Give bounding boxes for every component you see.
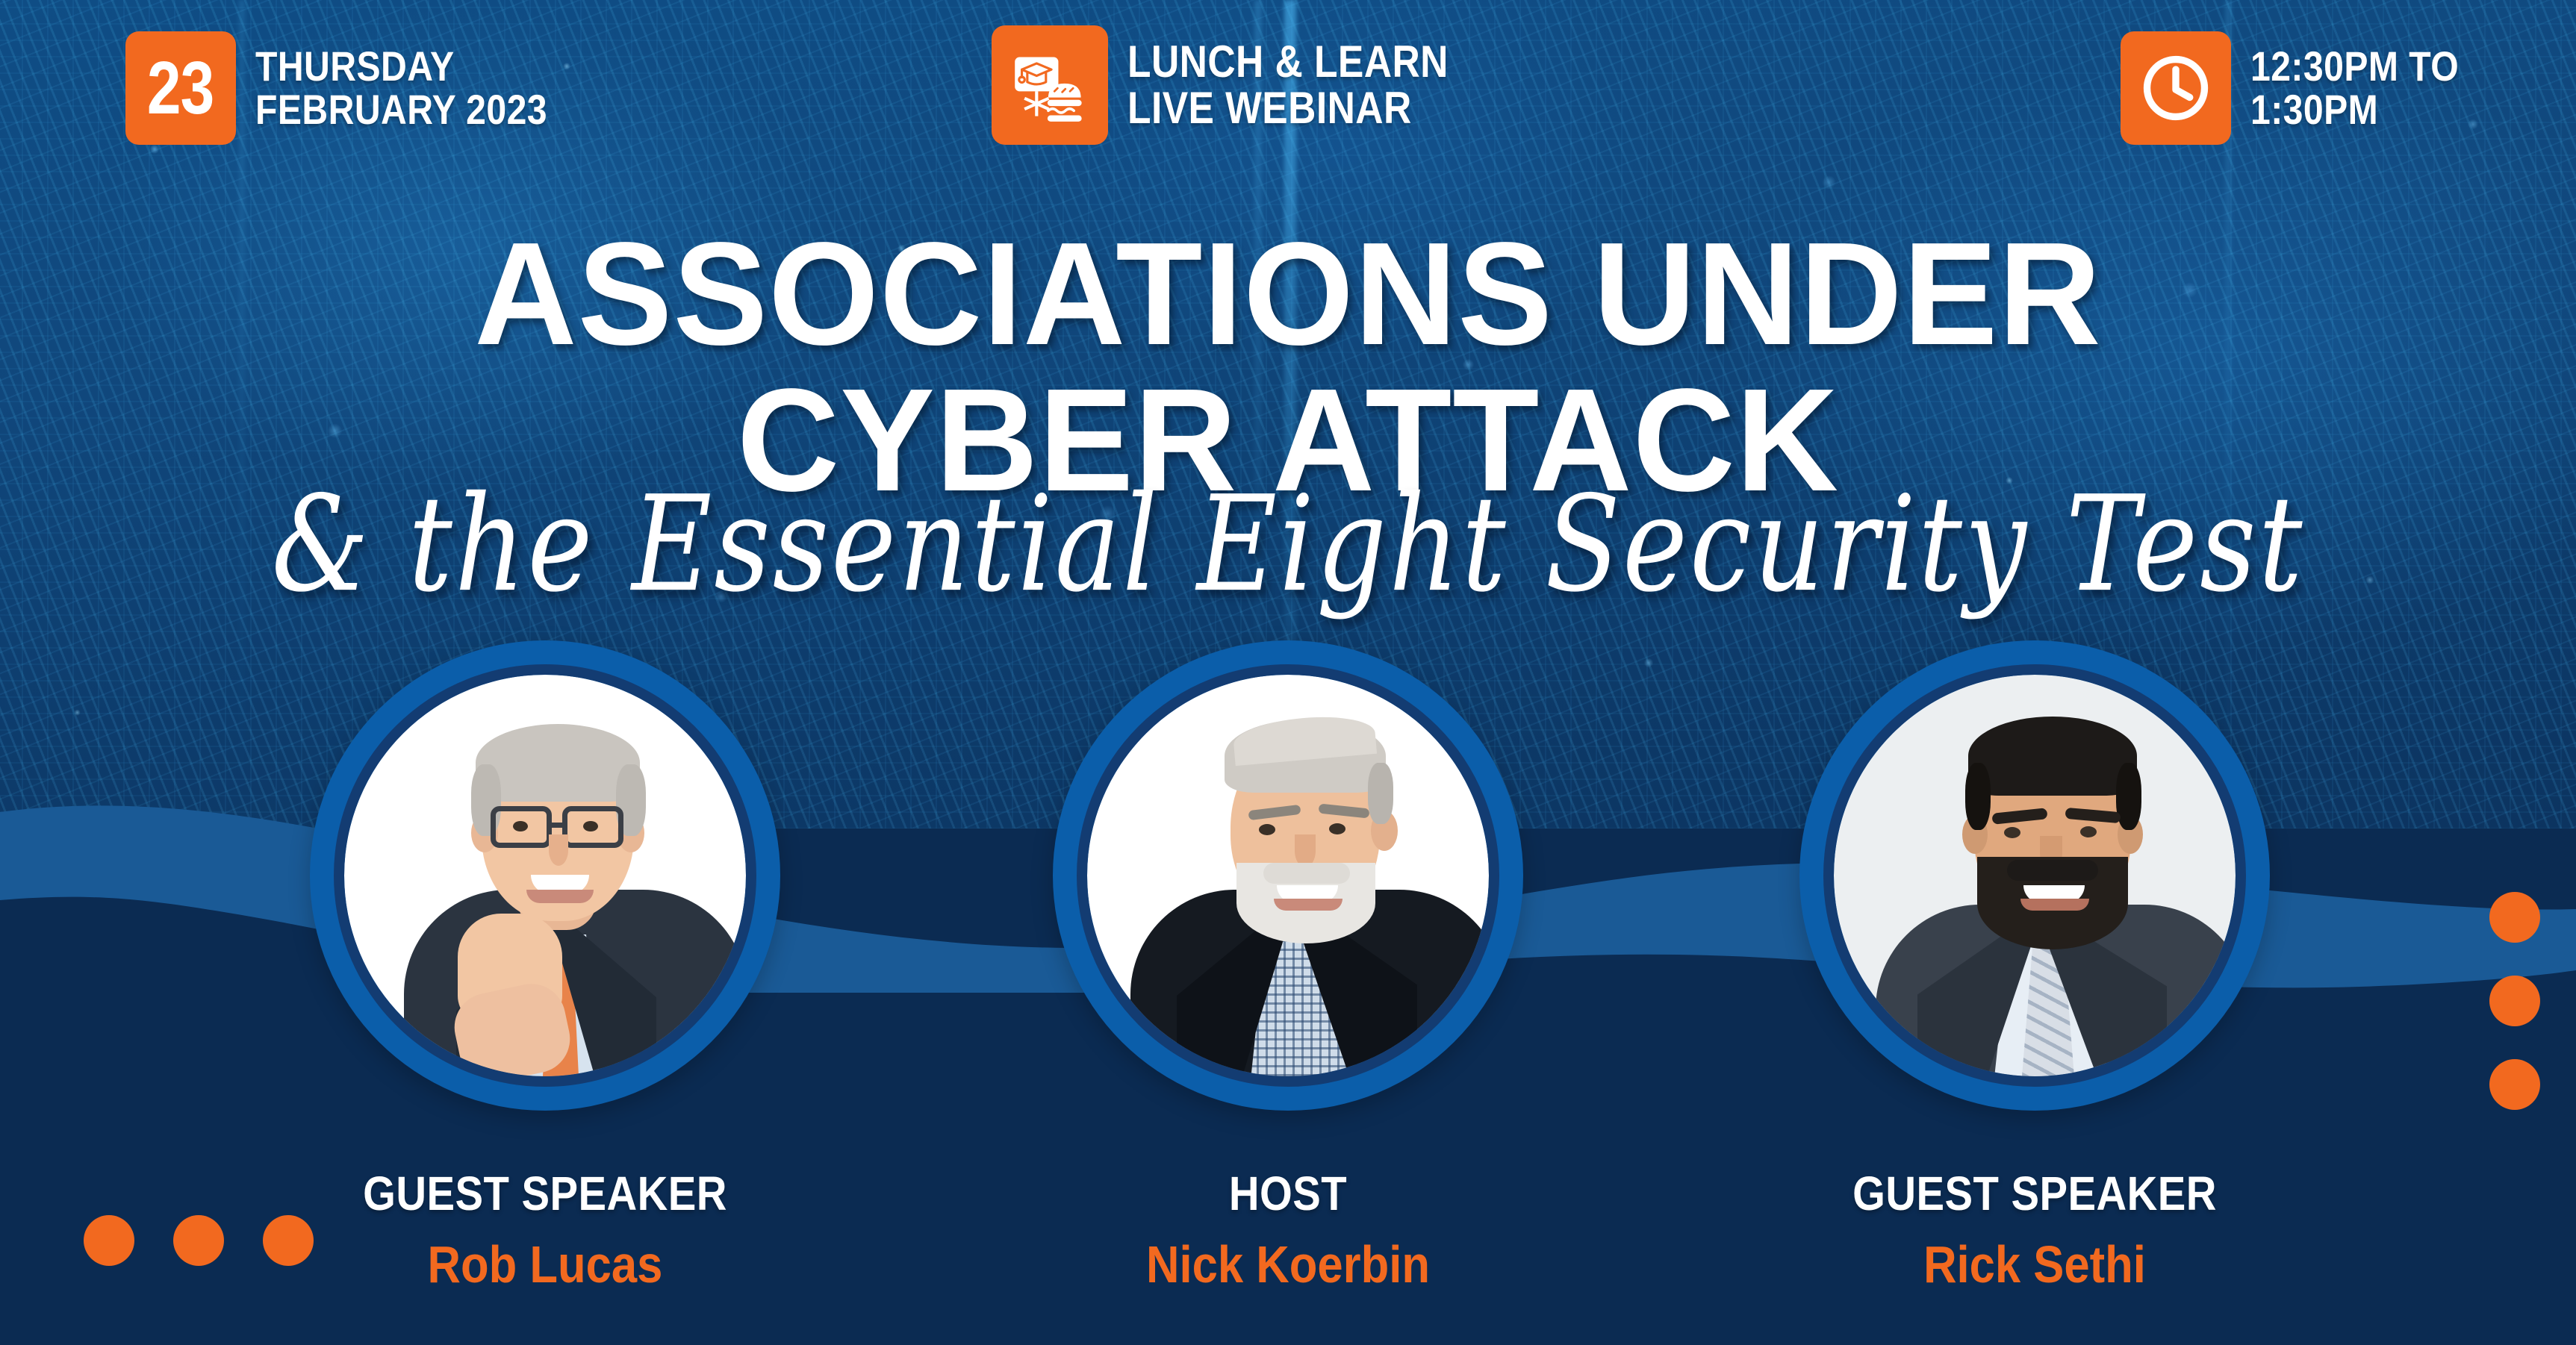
speaker-labels: GUEST SPEAKER Rob Lucas HOST Nick Koerbi… <box>0 1166 2576 1345</box>
lunch-learn-badge <box>992 25 1108 145</box>
speaker-portrait-1 <box>299 640 791 1111</box>
webinar-banner: 23 THURSDAY FEBRUARY 2023 <box>0 0 2576 1345</box>
decor-dots-left <box>84 1215 314 1266</box>
speaker-role-3: GUEST SPEAKER <box>1818 1166 2252 1221</box>
decor-dot <box>2489 892 2540 943</box>
avatar <box>1834 675 2236 1076</box>
time-line-2: 1:30PM <box>2250 88 2459 131</box>
portrait-ring <box>1053 640 1523 1111</box>
date-day-number: 23 <box>147 51 214 125</box>
speaker-portraits <box>0 640 2576 1163</box>
decor-dot <box>263 1215 314 1266</box>
speaker-role-1: GUEST SPEAKER <box>329 1166 762 1221</box>
date-month-year: FEBRUARY 2023 <box>255 88 547 131</box>
headline-line-1: ASSOCIATIONS UNDER <box>39 224 2538 364</box>
speaker-name-2: Nick Koerbin <box>1071 1235 1505 1294</box>
decor-dots-right <box>2489 892 2540 1110</box>
format-line-1: LUNCH & LEARN <box>1127 39 1449 85</box>
speaker-portrait-3 <box>1788 640 2281 1111</box>
lunch-learn-icon <box>1011 46 1089 124</box>
speaker-label-1: GUEST SPEAKER Rob Lucas <box>299 1166 791 1294</box>
speaker-label-2: HOST Nick Koerbin <box>1042 1166 1534 1294</box>
speaker-role-2: HOST <box>1071 1166 1505 1221</box>
speaker-portrait-2 <box>1042 640 1534 1111</box>
time-line-1: 12:30PM TO <box>2250 45 2459 88</box>
script-subtitle: & the Essential Eight Security Test <box>26 466 2551 624</box>
decor-dot <box>84 1215 134 1266</box>
portrait-ring <box>1799 640 2270 1111</box>
decor-dot <box>2489 976 2540 1026</box>
clock-icon <box>2137 49 2215 127</box>
event-format-block: LUNCH & LEARN LIVE WEBINAR <box>992 25 1501 145</box>
time-badge <box>2121 31 2231 145</box>
speaker-name-3: Rick Sethi <box>1818 1235 2252 1294</box>
speaker-name-1: Rob Lucas <box>329 1235 762 1294</box>
event-date-block: 23 THURSDAY FEBRUARY 2023 <box>125 31 595 145</box>
date-weekday: THURSDAY <box>255 45 547 88</box>
avatar <box>1087 675 1489 1076</box>
decor-dot <box>2489 1059 2540 1110</box>
event-meta-bar: 23 THURSDAY FEBRUARY 2023 <box>0 0 2576 194</box>
event-time-block: 12:30PM TO 1:30PM <box>2121 31 2493 145</box>
format-line-2: LIVE WEBINAR <box>1127 85 1449 131</box>
decor-dot <box>173 1215 224 1266</box>
speaker-label-3: GUEST SPEAKER Rick Sethi <box>1788 1166 2281 1294</box>
portrait-ring <box>310 640 780 1111</box>
date-day-badge: 23 <box>125 31 236 145</box>
avatar <box>344 675 746 1076</box>
